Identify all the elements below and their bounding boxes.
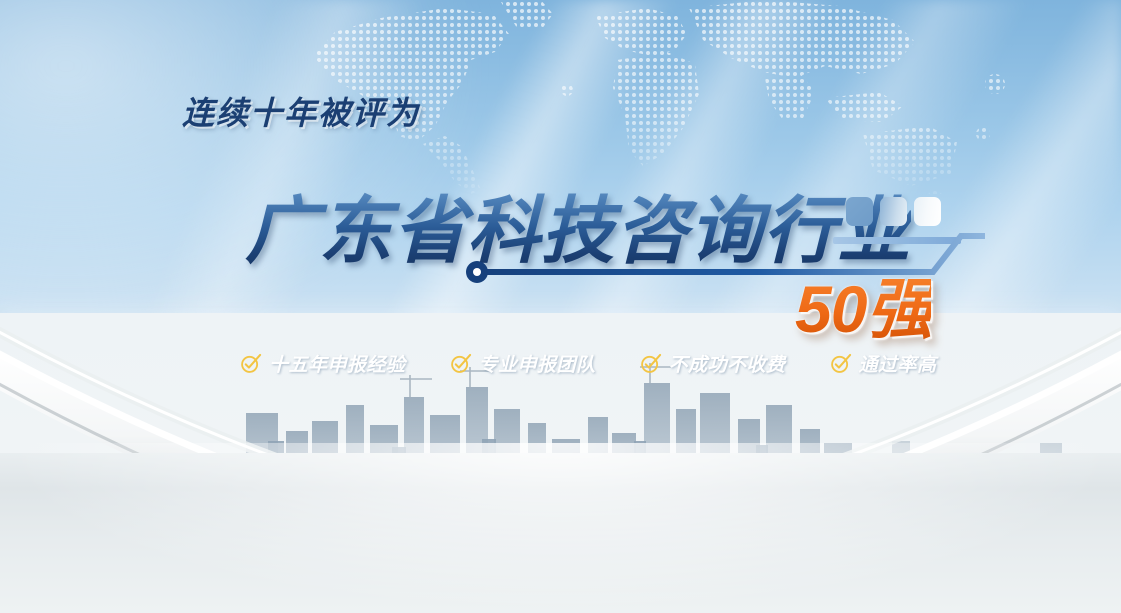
square-white-icon — [914, 197, 941, 226]
floor-sheen — [0, 443, 1121, 613]
feature-label: 不成功不收费 — [669, 350, 786, 377]
promo-banner: 连续十年被评为 广东省科技咨询行业 50强 — [0, 0, 1121, 613]
check-circle-icon — [450, 353, 471, 374]
check-circle-icon — [830, 353, 851, 374]
feature-list: 十五年申报经验 专业申报团队 不成功不收费 — [240, 350, 937, 377]
square-decor-group — [846, 197, 941, 226]
square-solid-blue-icon — [846, 197, 873, 226]
check-circle-icon — [240, 353, 261, 374]
kicker-text: 连续十年被评为 — [182, 88, 420, 134]
feature-label: 专业申报团队 — [479, 350, 596, 377]
list-item: 不成功不收费 — [640, 350, 786, 377]
list-item: 专业申报团队 — [450, 350, 596, 377]
list-item: 十五年申报经验 — [240, 350, 406, 377]
square-gradient-blue-icon — [880, 197, 907, 226]
feature-label: 通过率高 — [859, 350, 937, 377]
list-item: 通过率高 — [830, 350, 937, 377]
check-circle-icon — [640, 353, 661, 374]
feature-label: 十五年申报经验 — [269, 350, 406, 377]
status-badge: 50强 — [795, 256, 931, 352]
